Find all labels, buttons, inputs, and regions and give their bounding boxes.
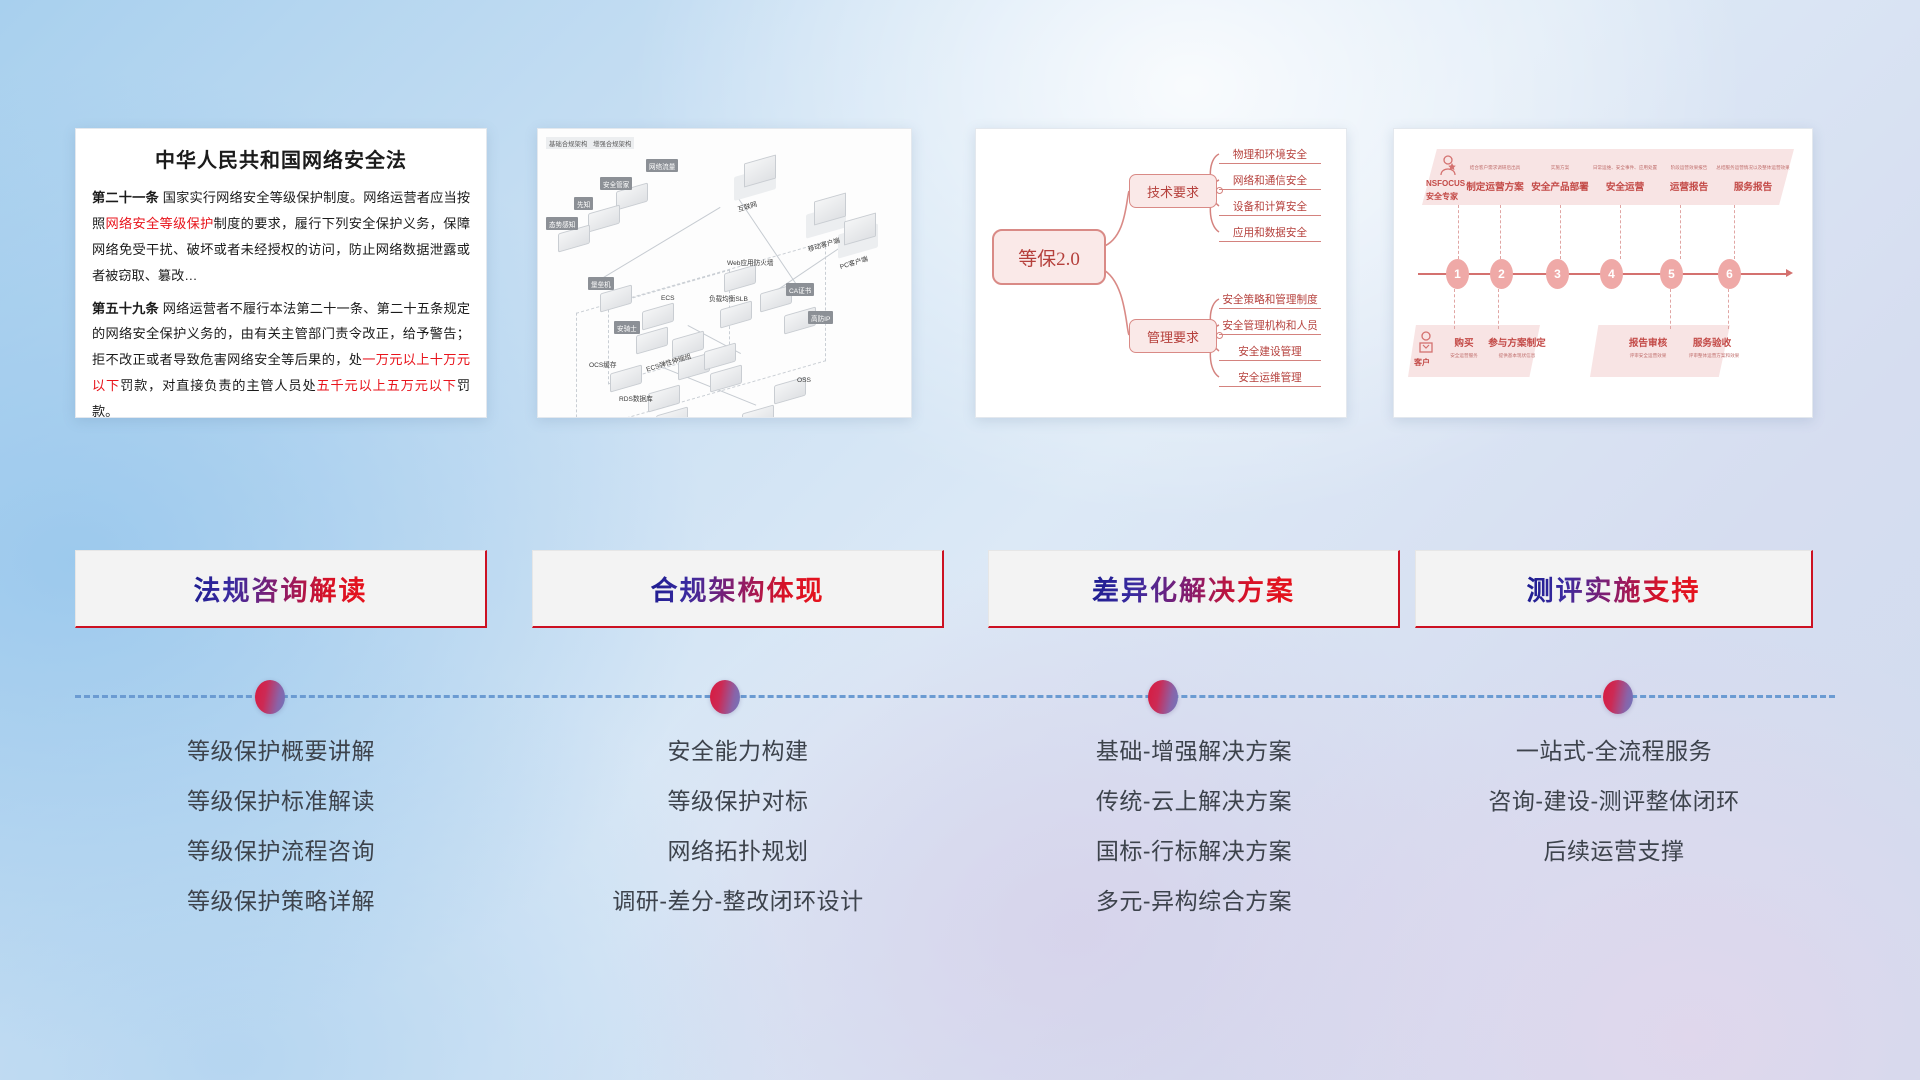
law-article-number: 第五十九条 bbox=[92, 301, 159, 316]
rail-dashed-line bbox=[75, 695, 1835, 698]
timeline-step-title: 报告审核 bbox=[1620, 335, 1676, 349]
list-item: 国标-行标解决方案 bbox=[988, 840, 1400, 863]
mindmap-leaf: 安全建设管理 bbox=[1219, 344, 1321, 361]
section-items-column-3: 一站式-全流程服务 咨询-建设-测评整体闭环 后续运营支撑 bbox=[1415, 740, 1813, 890]
card-compliance-architecture[interactable]: 基础合规架构 增强合规架构 bbox=[537, 128, 912, 418]
rail-dot-1 bbox=[710, 680, 740, 714]
rail-dot-3 bbox=[1603, 680, 1633, 714]
timeline-step-number: 2 bbox=[1490, 259, 1513, 289]
law-text-highlight: 网络安全等级保护 bbox=[106, 216, 214, 231]
list-item: 等级保护对标 bbox=[532, 790, 944, 813]
rail-dot-2 bbox=[1148, 680, 1178, 714]
timeline-connector bbox=[1458, 205, 1460, 259]
timeline-connector bbox=[1728, 289, 1730, 329]
timeline-band-customer-right bbox=[1590, 325, 1730, 377]
mindmap-root-node: 等保2.0 bbox=[992, 229, 1106, 285]
arch-node-vpc bbox=[742, 404, 774, 418]
service-timeline-diagram: NSFOCUS 安全专家 客户 结合客户需求调研后出具 制定运营方案 实施方案 … bbox=[1394, 129, 1812, 417]
law-card-body: 第二十一条 国家实行网络安全等级保护制度。网络运营者应当按照网络安全等级保护制度… bbox=[76, 185, 486, 418]
list-item: 等级保护标准解读 bbox=[75, 790, 487, 813]
timeline-rail bbox=[0, 660, 1920, 720]
timeline-step-title: 服务报告 bbox=[1716, 179, 1790, 193]
section-items-column-0: 等级保护概要讲解 等级保护标准解读 等级保护流程咨询 等级保护策略详解 bbox=[75, 740, 487, 940]
card-cybersecurity-law[interactable]: 中华人民共和国网络安全法 第二十一条 国家实行网络安全等级保护制度。网络运营者应… bbox=[75, 128, 487, 418]
expert-person-icon bbox=[1438, 155, 1458, 179]
timeline-connector bbox=[1498, 289, 1500, 329]
timeline-connector bbox=[1454, 289, 1456, 329]
timeline-arrow-icon bbox=[1786, 269, 1793, 277]
reference-cards-row: 中华人民共和国网络安全法 第二十一条 国家实行网络安全等级保护制度。网络运营者应… bbox=[0, 128, 1920, 432]
section-heading-box-3[interactable]: 测评实施支持 bbox=[1415, 550, 1813, 628]
timeline-step-sub: 结合客户需求调研后出具 bbox=[1464, 165, 1526, 171]
list-item: 等级保护策略详解 bbox=[75, 890, 487, 913]
law-paragraph: 第二十一条 国家实行网络安全等级保护制度。网络运营者应当按照网络安全等级保护制度… bbox=[92, 185, 470, 289]
law-text-highlight: 五千元以上五万元以下 bbox=[317, 378, 457, 393]
arch-label-waf: Web应用防火墙 bbox=[724, 255, 776, 268]
list-item: 基础-增强解决方案 bbox=[988, 740, 1400, 763]
section-items-row: 等级保护概要讲解 等级保护标准解读 等级保护流程咨询 等级保护策略详解 安全能力… bbox=[0, 740, 1920, 950]
arch-label-ecs: ECS bbox=[658, 293, 678, 303]
mindmap-leaf: 安全管理机构和人员 bbox=[1219, 318, 1321, 335]
list-item: 安全能力构建 bbox=[532, 740, 944, 763]
arch-tab-basic[interactable]: 基础合规架构 bbox=[546, 137, 590, 149]
arch-label-network-traffic: 网络流量 bbox=[646, 159, 678, 172]
law-article-number: 第二十一条 bbox=[92, 190, 159, 205]
law-text-segment: 罚款，对直接负责的主管人员处 bbox=[120, 378, 316, 393]
arch-label-situational-awareness: 态势感知 bbox=[546, 217, 578, 230]
arch-label-ca-cert: CA证书 bbox=[786, 283, 814, 296]
architecture-diagram: 基础合规架构 增强合规架构 bbox=[538, 129, 911, 417]
card-service-timeline[interactable]: NSFOCUS 安全专家 客户 结合客户需求调研后出具 制定运营方案 实施方案 … bbox=[1393, 128, 1813, 418]
timeline-step-title: 购买 bbox=[1442, 335, 1486, 349]
section-items-column-1: 安全能力构建 等级保护对标 网络拓扑规划 调研-差分-整改闭环设计 bbox=[532, 740, 944, 940]
list-item: 等级保护概要讲解 bbox=[75, 740, 487, 763]
mindmap-branch-technical: 技术要求 bbox=[1129, 174, 1217, 208]
arch-tab-enhanced[interactable]: 增强合规架构 bbox=[590, 137, 634, 149]
customer-person-icon bbox=[1416, 331, 1436, 357]
arch-label-vpc: VPC bbox=[746, 417, 766, 418]
list-item: 等级保护流程咨询 bbox=[75, 840, 487, 863]
mindmap-leaf: 应用和数据安全 bbox=[1219, 225, 1321, 242]
timeline-customer-role: 客户 bbox=[1414, 357, 1430, 368]
section-heading-box-1[interactable]: 合规架构体现 bbox=[532, 550, 944, 628]
arch-label-oss: OSS bbox=[794, 375, 814, 385]
mindmap-leaf: 物理和环境安全 bbox=[1219, 147, 1321, 164]
timeline-connector bbox=[1560, 205, 1562, 259]
timeline-step-title: 安全产品部署 bbox=[1530, 179, 1590, 193]
mindmap-leaf: 安全策略和管理制度 bbox=[1219, 292, 1321, 309]
timeline-connector bbox=[1620, 205, 1622, 259]
list-item: 咨询-建设-测评整体闭环 bbox=[1415, 790, 1813, 813]
list-item: 网络拓扑规划 bbox=[532, 840, 944, 863]
timeline-step-sub: 实施方案 bbox=[1530, 165, 1590, 171]
timeline-expert-role-line2: 安全专家 bbox=[1426, 191, 1458, 202]
mindmap-leaf: 设备和计算安全 bbox=[1219, 199, 1321, 216]
timeline-expert-role-line1: NSFOCUS bbox=[1426, 179, 1465, 188]
section-heading-label: 差异化解决方案 bbox=[1092, 569, 1295, 608]
timeline-step-sub: 评审安全运营效果 bbox=[1614, 353, 1682, 359]
card-mindmap-dengbao[interactable]: 等保2.0 技术要求 物理和环境安全 网络和通信安全 设备和计算安全 应用和数据… bbox=[975, 128, 1347, 418]
timeline-step-number: 5 bbox=[1660, 259, 1683, 289]
arch-label-ocs-cache: OCS缓存 bbox=[586, 357, 619, 370]
timeline-connector bbox=[1734, 205, 1736, 259]
list-item: 多元-异构综合方案 bbox=[988, 890, 1400, 913]
timeline-step-number: 6 bbox=[1718, 259, 1741, 289]
rail-dot-0 bbox=[255, 680, 285, 714]
section-items-column-2: 基础-增强解决方案 传统-云上解决方案 国标-行标解决方案 多元-异构综合方案 bbox=[988, 740, 1400, 940]
section-heading-label: 测评实施支持 bbox=[1527, 569, 1701, 608]
timeline-step-sub: 安全运营服务 bbox=[1442, 353, 1486, 359]
list-item: 一站式-全流程服务 bbox=[1415, 740, 1813, 763]
section-heading-box-0[interactable]: 法规咨询解读 bbox=[75, 550, 487, 628]
arch-label-xianzhi: 先知 bbox=[574, 197, 593, 210]
section-heading-label: 合规架构体现 bbox=[651, 569, 825, 608]
arch-label-slb: 负载均衡SLB bbox=[706, 291, 751, 304]
timeline-step-number: 1 bbox=[1446, 259, 1469, 289]
timeline-step-sub: 评审整体运营方案和效果 bbox=[1678, 353, 1750, 359]
timeline-connector bbox=[1500, 205, 1502, 259]
arch-label-bastion-host: 堡垒机 bbox=[588, 277, 614, 290]
mindmap-leaf: 安全运维管理 bbox=[1219, 370, 1321, 387]
arch-label-rds: RDS数据库 bbox=[616, 391, 656, 404]
timeline-step-title: 安全运营 bbox=[1592, 179, 1658, 193]
timeline-step-title: 运营报告 bbox=[1658, 179, 1720, 193]
timeline-step-sub: 提供基本现状信息 bbox=[1486, 353, 1548, 359]
section-heading-box-2[interactable]: 差异化解决方案 bbox=[988, 550, 1400, 628]
arch-label-anti-ddos-ip: 高防IP bbox=[808, 311, 833, 324]
timeline-step-number: 3 bbox=[1546, 259, 1569, 289]
section-headings-row: 法规咨询解读 合规架构体现 差异化解决方案 测评实施支持 bbox=[0, 550, 1920, 628]
mindmap-branch-management: 管理要求 bbox=[1129, 319, 1217, 353]
timeline-step-title: 参与方案制定 bbox=[1486, 335, 1548, 349]
timeline-step-sub: 总结服务运营情况以及整体运营效果 bbox=[1716, 165, 1790, 171]
timeline-step-number: 4 bbox=[1600, 259, 1623, 289]
list-item: 传统-云上解决方案 bbox=[988, 790, 1400, 813]
list-item: 调研-差分-整改闭环设计 bbox=[532, 890, 944, 913]
mindmap-diagram: 等保2.0 技术要求 物理和环境安全 网络和通信安全 设备和计算安全 应用和数据… bbox=[976, 129, 1346, 417]
timeline-step-title: 服务验收 bbox=[1684, 335, 1740, 349]
arch-label-security-butler: 安全管家 bbox=[600, 177, 632, 190]
timeline-band-expert bbox=[1422, 149, 1794, 205]
timeline-step-sub: 阶段运营效果报告 bbox=[1658, 165, 1720, 171]
arch-label-anqishi: 安骑士 bbox=[614, 321, 640, 334]
law-card-title: 中华人民共和国网络安全法 bbox=[76, 144, 486, 173]
law-paragraph: 第五十九条 网络运营者不履行本法第二十一条、第二十五条规定的网络安全保护义务的，… bbox=[92, 296, 470, 419]
timeline-step-sub: 日常运维、安全事件、应用处置 bbox=[1592, 165, 1658, 171]
section-heading-label: 法规咨询解读 bbox=[194, 569, 368, 608]
timeline-connector bbox=[1670, 289, 1672, 329]
mindmap-leaf: 网络和通信安全 bbox=[1219, 173, 1321, 190]
timeline-connector bbox=[1680, 205, 1682, 259]
timeline-step-title: 制定运营方案 bbox=[1464, 179, 1526, 193]
list-item: 后续运营支撑 bbox=[1415, 840, 1813, 863]
